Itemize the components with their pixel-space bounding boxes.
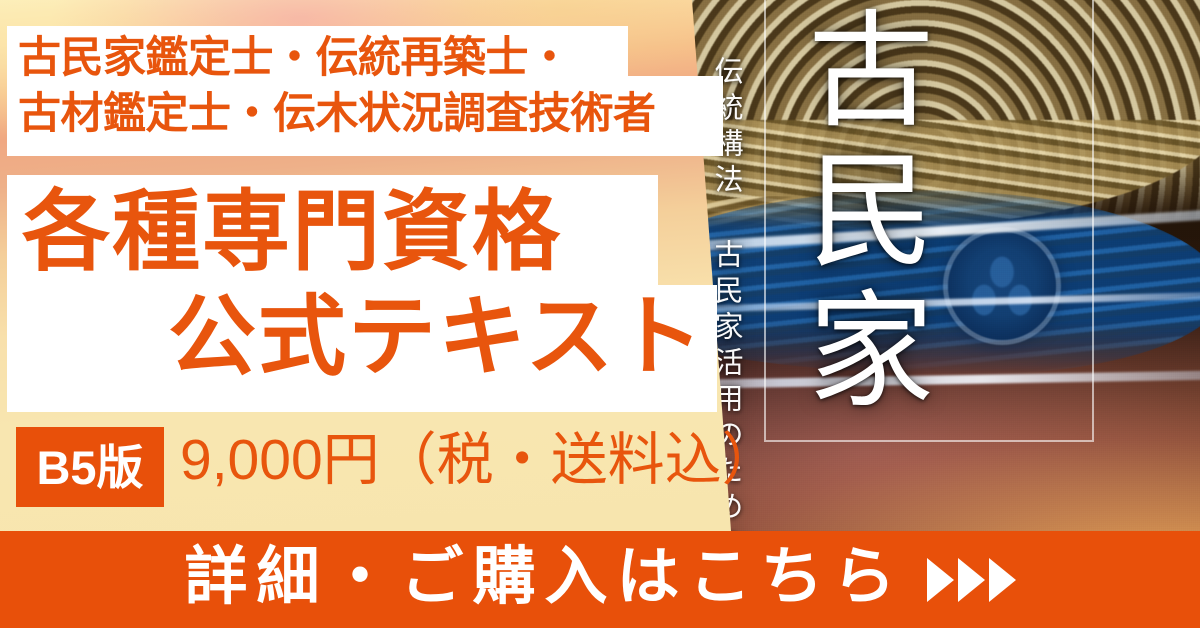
cta-inner[interactable]: 詳細・ご購入はこちら [185, 546, 1016, 609]
format-badge-label: B5版 [36, 444, 143, 491]
format-badge: B5版 [16, 427, 164, 507]
cta-arrows [927, 558, 1016, 602]
cta-label: 詳細・ご購入はこちら [185, 546, 905, 609]
promo-banner: 伝統構法 古民家活用のための調査と再生の 古民家 古民家鑑定士・伝統再築士・ 古… [0, 0, 1200, 628]
cta-bar[interactable]: 詳細・ご購入はこちら [0, 531, 1200, 628]
chevron-right-icon [989, 558, 1016, 602]
chevron-right-icon [958, 558, 985, 602]
title-line-2: 公式テキスト [168, 293, 705, 381]
qualifications-line-2: 古材鑑定士・伝木状況調査技術者 [18, 93, 656, 136]
book-cover-title-vertical: 古民家 [795, 4, 921, 424]
qualifications-line-1: 古民家鑑定士・伝統再築士・ [18, 37, 571, 80]
chevron-right-icon [927, 558, 954, 602]
title-line-1: 各種専門資格 [22, 188, 562, 276]
price-text: 9,000円（税・送料込） [180, 432, 779, 489]
